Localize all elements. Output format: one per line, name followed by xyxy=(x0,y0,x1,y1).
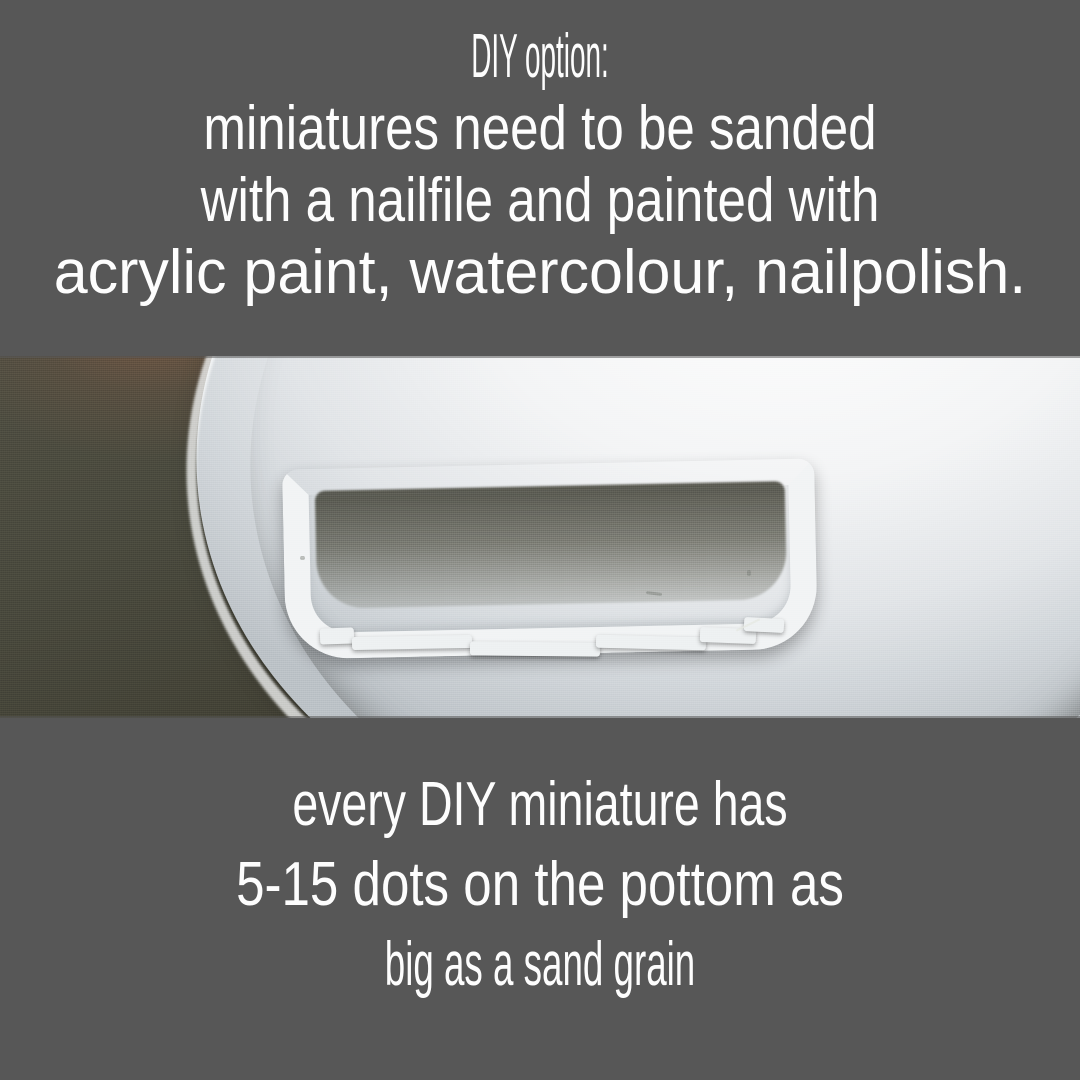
print-seam-mark xyxy=(747,570,751,576)
top-caption-line-1: DIY option: xyxy=(297,26,783,88)
top-caption-band: DIY option: miniatures need to be sanded… xyxy=(0,0,1080,356)
photo-top-edge xyxy=(0,356,1080,358)
print-blob xyxy=(320,627,355,644)
top-caption-line-4: acrylic paint, watercolour, nailpolish. xyxy=(9,242,1071,304)
top-caption-line-2: miniatures need to be sanded xyxy=(95,98,985,160)
meme-image: DIY option: miniatures need to be sanded… xyxy=(0,0,1080,1080)
print-seam-mark xyxy=(300,556,305,560)
miniature-photo xyxy=(0,356,1080,718)
bottom-caption-band: every DIY miniature has 5-15 dots on the… xyxy=(0,718,1080,1080)
print-blob xyxy=(596,635,706,651)
top-caption-line-3: with a nailfile and painted with xyxy=(95,170,985,232)
bottom-caption-line-2: 5-15 dots on the pottom as xyxy=(95,854,985,916)
print-blob xyxy=(470,641,600,656)
bottom-caption-line-1: every DIY miniature has xyxy=(135,774,945,836)
bottom-caption-line-3: big as a sand grain xyxy=(220,934,860,996)
print-blob xyxy=(352,635,472,650)
